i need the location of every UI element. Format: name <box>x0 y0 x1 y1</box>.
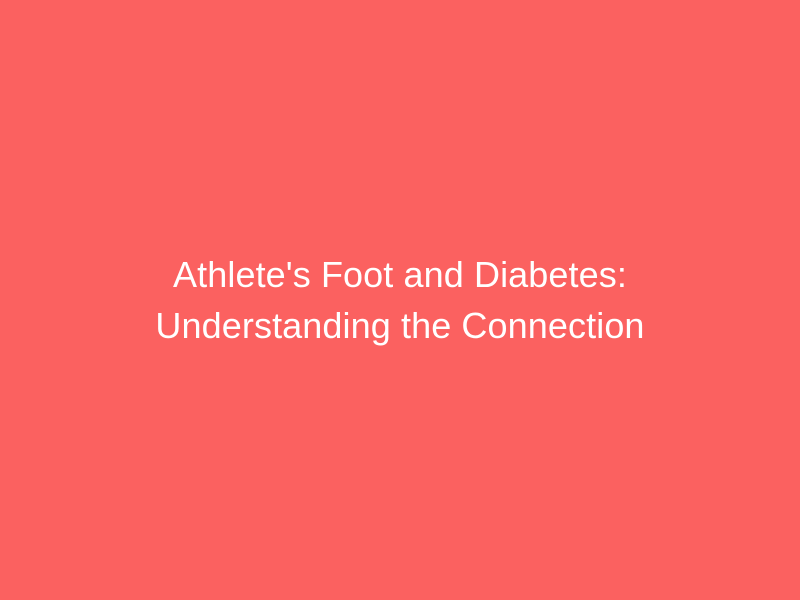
page-title: Athlete's Foot and Diabetes: Understandi… <box>70 249 730 351</box>
title-block: Athlete's Foot and Diabetes: Understandi… <box>70 249 730 351</box>
title-card: Athlete's Foot and Diabetes: Understandi… <box>0 0 800 600</box>
